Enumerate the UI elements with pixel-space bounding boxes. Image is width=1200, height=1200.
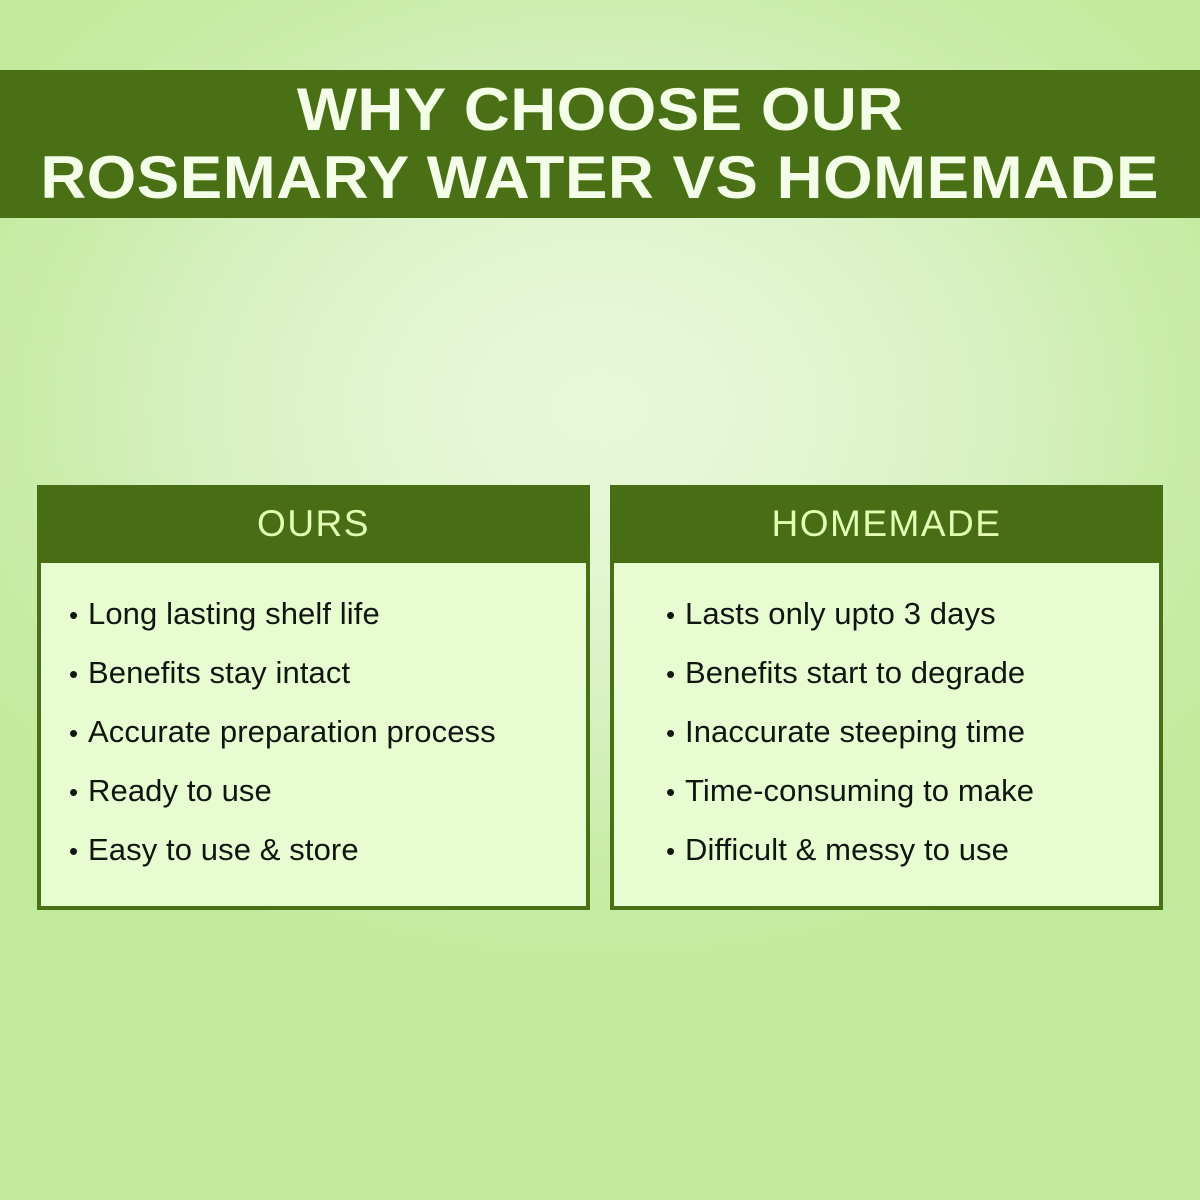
list-item: • Time-consuming to make (666, 762, 1159, 821)
list-item: • Ready to use (69, 762, 586, 821)
card-ours-body: • Long lasting shelf life • Benefits sta… (37, 563, 590, 910)
list-item: • Easy to use & store (69, 821, 586, 880)
card-homemade-bullet-list: • Lasts only upto 3 days • Benefits star… (666, 585, 1159, 880)
bullet-dot-icon: • (69, 764, 88, 821)
list-item-label: Easy to use & store (88, 821, 586, 878)
card-ours-bullet-list: • Long lasting shelf life • Benefits sta… (69, 585, 586, 880)
list-item-label: Accurate preparation process (88, 703, 586, 760)
list-item: • Benefits start to degrade (666, 644, 1159, 703)
bullet-dot-icon: • (666, 764, 685, 821)
list-item: • Difficult & messy to use (666, 821, 1159, 880)
title-line-1: WHY CHOOSE OUR (297, 80, 904, 140)
card-homemade-header: HOMEMADE (610, 485, 1163, 563)
list-item-label: Long lasting shelf life (88, 585, 586, 642)
list-item-label: Benefits start to degrade (685, 644, 1159, 701)
list-item-label: Benefits stay intact (88, 644, 586, 701)
bullet-dot-icon: • (666, 823, 685, 880)
comparison-infographic: WHY CHOOSE OUR ROSEMARY WATER VS HOMEMAD… (0, 0, 1200, 1200)
list-item-label: Ready to use (88, 762, 586, 819)
list-item: • Inaccurate steeping time (666, 703, 1159, 762)
card-ours-header-label: OURS (257, 503, 370, 545)
card-homemade-body: • Lasts only upto 3 days • Benefits star… (610, 563, 1163, 910)
bullet-dot-icon: • (69, 646, 88, 703)
bullet-dot-icon: • (666, 705, 685, 762)
card-ours: OURS • Long lasting shelf life • Benefit… (37, 485, 590, 910)
bullet-dot-icon: • (69, 587, 88, 644)
list-item-label: Lasts only upto 3 days (685, 585, 1159, 642)
title-banner: WHY CHOOSE OUR ROSEMARY WATER VS HOMEMAD… (0, 70, 1200, 218)
comparison-cards: OURS • Long lasting shelf life • Benefit… (37, 485, 1163, 910)
list-item: • Accurate preparation process (69, 703, 586, 762)
bullet-dot-icon: • (69, 823, 88, 880)
card-ours-header: OURS (37, 485, 590, 563)
bullet-dot-icon: • (69, 705, 88, 762)
list-item-label: Inaccurate steeping time (685, 703, 1159, 760)
card-homemade: HOMEMADE • Lasts only upto 3 days • Bene… (610, 485, 1163, 910)
list-item-label: Time-consuming to make (685, 762, 1159, 819)
list-item: • Benefits stay intact (69, 644, 586, 703)
title-line-2: ROSEMARY WATER VS HOMEMADE (41, 148, 1160, 208)
bullet-dot-icon: • (666, 646, 685, 703)
list-item: • Long lasting shelf life (69, 585, 586, 644)
card-homemade-header-label: HOMEMADE (772, 503, 1002, 545)
list-item-label: Difficult & messy to use (685, 821, 1159, 878)
list-item: • Lasts only upto 3 days (666, 585, 1159, 644)
bullet-dot-icon: • (666, 587, 685, 644)
